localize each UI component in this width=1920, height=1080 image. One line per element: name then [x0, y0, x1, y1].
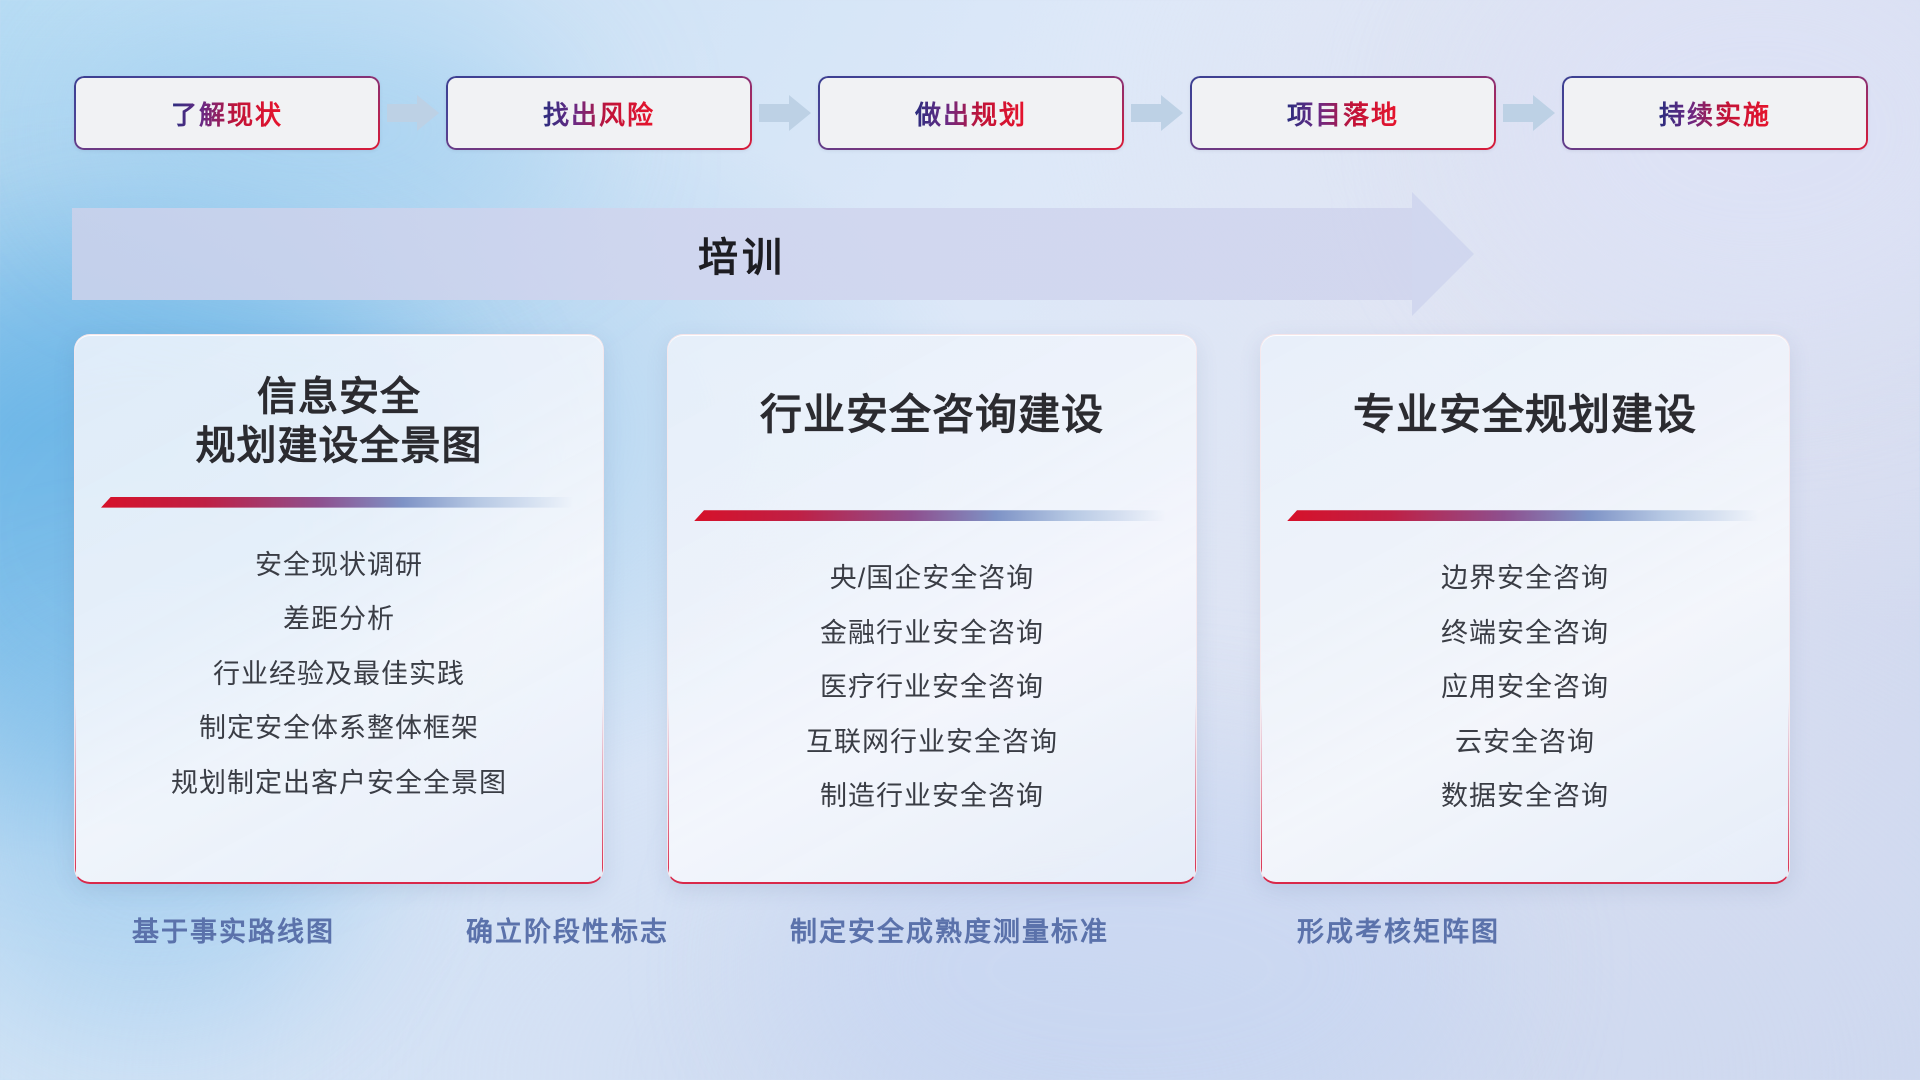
list-item: 云安全咨询 — [1455, 722, 1595, 763]
card-divider-bar — [694, 510, 1166, 521]
training-banner-title: 培训 — [72, 208, 1412, 300]
list-item: 差距分析 — [283, 599, 395, 640]
arrow-right-icon — [386, 93, 440, 133]
arrow-right-icon — [1502, 93, 1556, 133]
list-item: 制造行业安全咨询 — [820, 776, 1044, 817]
process-steps: 了解现状 找出风险 做出规划 项目落地 持续实施 — [0, 72, 1920, 154]
feature-card-professional-planning[interactable]: 专业安全规划建设 边界安全咨询 终端安全咨询 应用安全咨询 云安全咨询 数据安全… — [1260, 334, 1790, 884]
training-banner: 培训 — [72, 208, 1472, 300]
list-item: 行业经验及最佳实践 — [213, 654, 465, 695]
card-divider — [694, 510, 1166, 524]
list-item: 制定安全体系整体框架 — [199, 708, 479, 749]
list-item: 终端安全咨询 — [1441, 613, 1609, 654]
list-item: 应用安全咨询 — [1441, 667, 1609, 708]
process-step-label: 找出风险 — [543, 95, 655, 132]
process-step-4[interactable]: 项目落地 — [1190, 76, 1496, 150]
feature-card-industry-consulting[interactable]: 行业安全咨询建设 央/国企安全咨询 金融行业安全咨询 医疗行业安全咨询 互联网行… — [667, 334, 1197, 884]
card-title: 信息安全 规划建设全景图 — [75, 373, 603, 471]
process-step-label: 项目落地 — [1287, 95, 1399, 132]
list-item: 边界安全咨询 — [1441, 558, 1609, 599]
card-title: 行业安全咨询建设 — [668, 373, 1196, 440]
footnote-label: 制定安全成熟度测量标准 — [790, 910, 1109, 949]
process-step-1[interactable]: 了解现状 — [74, 76, 380, 150]
footnote-label: 基于事实路线图 — [132, 910, 335, 949]
list-item: 安全现状调研 — [255, 545, 423, 586]
card-title-line-1: 行业安全咨询建设 — [686, 389, 1178, 440]
process-step-label: 持续实施 — [1659, 95, 1771, 132]
card-item-list: 安全现状调研 差距分析 行业经验及最佳实践 制定安全体系整体框架 规划制定出客户… — [75, 545, 603, 804]
list-item: 数据安全咨询 — [1441, 776, 1609, 817]
process-step-2[interactable]: 找出风险 — [446, 76, 752, 150]
footnote-row: 基于事实路线图 确立阶段性标志 制定安全成熟度测量标准 形成考核矩阵图 — [0, 910, 1920, 970]
arrow-right-icon — [1130, 93, 1184, 133]
banner-arrow-head-icon — [1412, 192, 1474, 316]
process-step-label: 做出规划 — [915, 95, 1027, 132]
card-divider-bar — [101, 497, 573, 508]
card-divider — [101, 497, 573, 511]
card-divider — [1287, 510, 1759, 524]
card-item-list: 央/国企安全咨询 金融行业安全咨询 医疗行业安全咨询 互联网行业安全咨询 制造行… — [668, 558, 1196, 817]
list-item: 金融行业安全咨询 — [820, 613, 1044, 654]
feature-card-information-security[interactable]: 信息安全 规划建设全景图 安全现状调研 差距分析 行业经验及最佳实践 制定安全体… — [74, 334, 604, 884]
card-title-line-2: 规划建设全景图 — [93, 422, 585, 471]
arrow-right-icon — [758, 93, 812, 133]
card-item-list: 边界安全咨询 终端安全咨询 应用安全咨询 云安全咨询 数据安全咨询 — [1261, 558, 1789, 817]
card-title-line-1: 专业安全规划建设 — [1279, 389, 1771, 440]
card-title: 专业安全规划建设 — [1261, 373, 1789, 440]
list-item: 央/国企安全咨询 — [830, 558, 1035, 599]
feature-card-row: 信息安全 规划建设全景图 安全现状调研 差距分析 行业经验及最佳实践 制定安全体… — [74, 334, 1874, 884]
card-title-line-1: 信息安全 — [93, 373, 585, 422]
list-item: 互联网行业安全咨询 — [806, 722, 1058, 763]
list-item: 规划制定出客户安全全景图 — [171, 763, 507, 804]
card-divider-bar — [1287, 510, 1759, 521]
footnote-label: 确立阶段性标志 — [466, 910, 669, 949]
process-step-label: 了解现状 — [171, 95, 283, 132]
footnote-label: 形成考核矩阵图 — [1297, 910, 1500, 949]
process-step-5[interactable]: 持续实施 — [1562, 76, 1868, 150]
list-item: 医疗行业安全咨询 — [820, 667, 1044, 708]
process-step-3[interactable]: 做出规划 — [818, 76, 1124, 150]
background-glow-top-right — [1480, 0, 1920, 350]
